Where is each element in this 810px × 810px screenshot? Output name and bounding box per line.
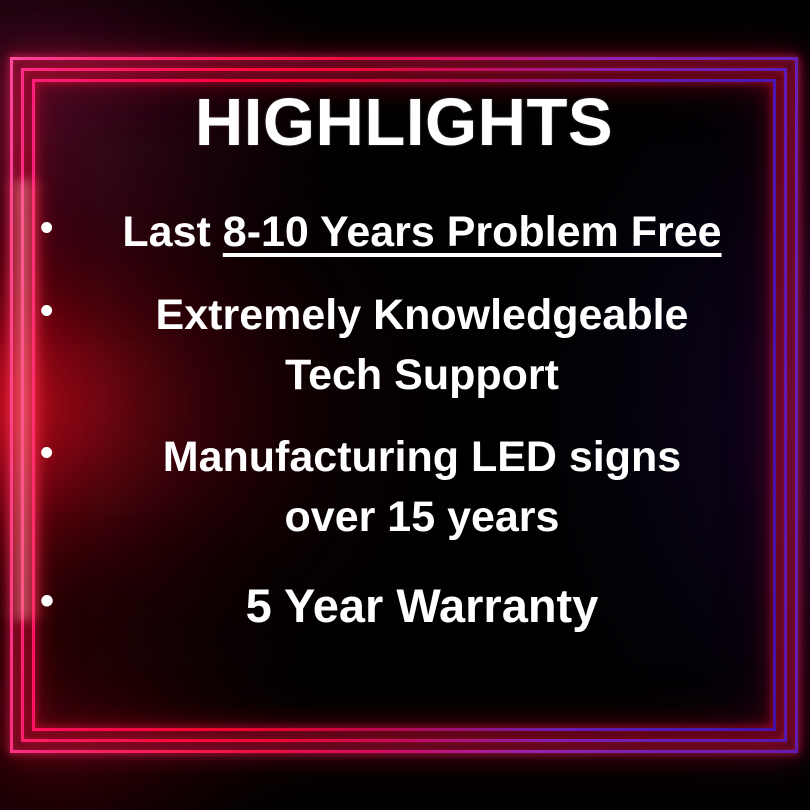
list-item-label: Manufacturing LED signs over 15 years bbox=[82, 427, 768, 547]
highlights-list: • Last 8-10 Years Problem Free • Extreme… bbox=[40, 202, 768, 639]
list-item-label: 5 Year Warranty bbox=[82, 573, 768, 639]
bullet-point-icon: • bbox=[40, 573, 82, 629]
list-item-label: Extremely Knowledgeable Tech Support bbox=[82, 285, 768, 405]
list-item-support: • Extremely Knowledgeable Tech Support bbox=[40, 285, 768, 405]
poster-content: HIGHLIGHTS • Last 8-10 Years Problem Fre… bbox=[40, 84, 768, 726]
list-item-lifespan: • Last 8-10 Years Problem Free bbox=[40, 202, 768, 262]
bullet-point-icon: • bbox=[40, 202, 82, 255]
bullet-point-icon: • bbox=[40, 427, 82, 480]
lifespan-underlined-text: 8-10 Years Problem Free bbox=[223, 208, 722, 256]
list-item-warranty: • 5 Year Warranty bbox=[40, 573, 768, 639]
lifespan-lead-text: Last bbox=[122, 208, 222, 256]
list-item-label: Last 8-10 Years Problem Free bbox=[82, 202, 768, 262]
bullet-point-icon: • bbox=[40, 285, 82, 338]
experience-line-1: Manufacturing LED signs bbox=[82, 427, 762, 487]
support-line-2: Tech Support bbox=[82, 345, 762, 405]
list-item-experience: • Manufacturing LED signs over 15 years bbox=[40, 427, 768, 547]
page-title: HIGHLIGHTS bbox=[40, 84, 768, 158]
highlights-poster: HIGHLIGHTS • Last 8-10 Years Problem Fre… bbox=[0, 0, 810, 810]
experience-line-2: over 15 years bbox=[82, 487, 762, 547]
support-line-1: Extremely Knowledgeable bbox=[82, 285, 762, 345]
